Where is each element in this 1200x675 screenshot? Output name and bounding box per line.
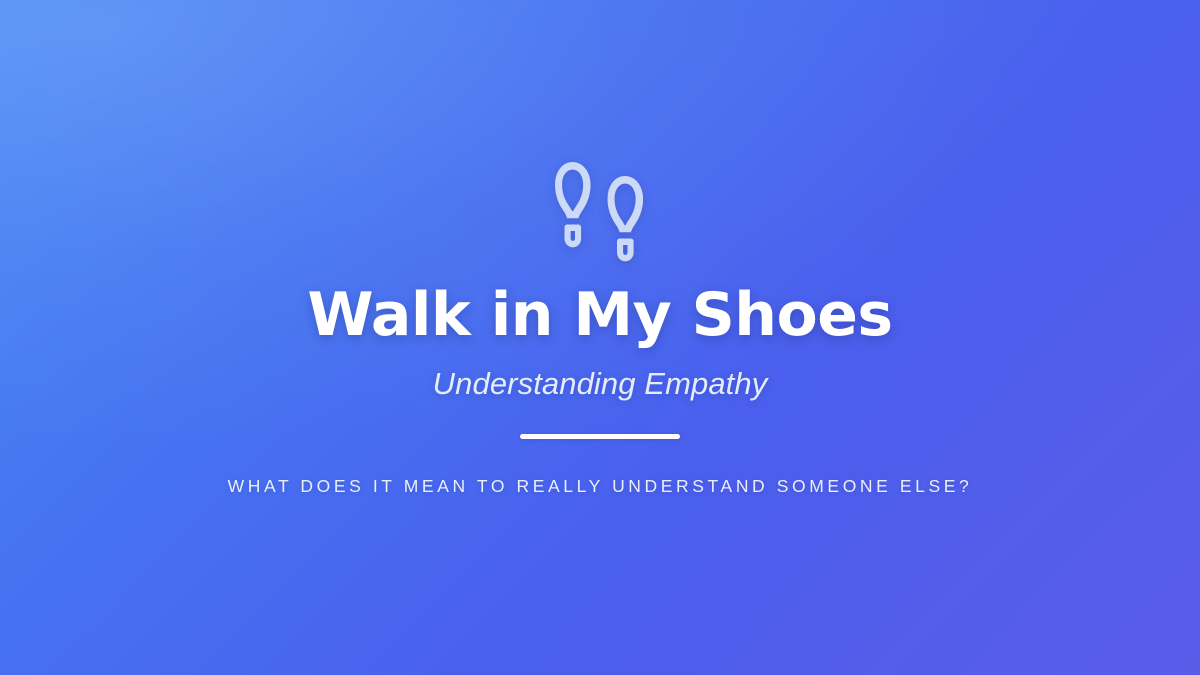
page-subtitle: Understanding Empathy bbox=[433, 366, 768, 402]
slide-content: Walk in My Shoes Understanding Empathy W… bbox=[0, 0, 1200, 497]
page-title: Walk in My Shoes bbox=[307, 284, 892, 347]
title-slide: Walk in My Shoes Understanding Empathy W… bbox=[0, 0, 1200, 675]
divider bbox=[520, 434, 680, 439]
footprints-icon-svg bbox=[552, 158, 648, 262]
footprints-icon bbox=[552, 158, 648, 262]
page-caption: WHAT DOES IT MEAN TO REALLY UNDERSTAND S… bbox=[228, 476, 973, 497]
